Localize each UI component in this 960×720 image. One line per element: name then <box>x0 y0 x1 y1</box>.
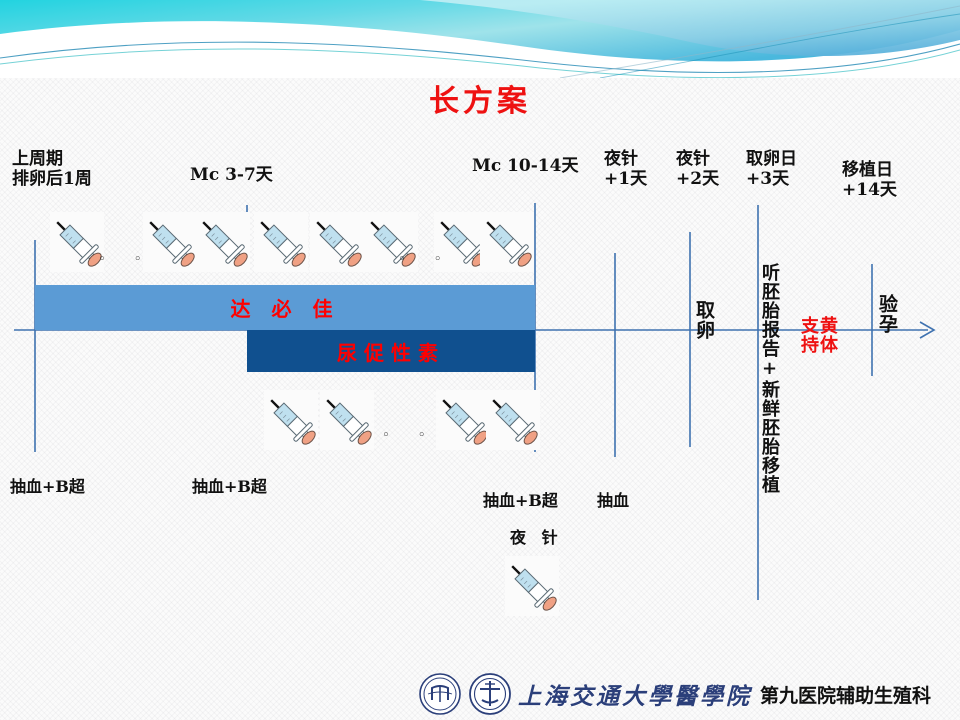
stage-label-prev-cycle: 上周期 排卵后1周 <box>12 150 92 189</box>
page-title: 长方案 <box>0 76 960 120</box>
vertical-note-embryo-report-transfer: 听胚胎报告+新鲜胚胎移植 <box>760 263 778 494</box>
syringe-icon <box>254 212 308 272</box>
vertical-note-luteal-support-line1: 黄体 <box>818 316 836 354</box>
syringe-icon-trigger-0 <box>505 556 559 616</box>
stage-label-mc-10-14: Mc 10-14天 <box>472 157 578 177</box>
syringe-icon <box>310 212 364 272</box>
hospital-seal-icon <box>468 672 512 716</box>
stage-label-transfer-plus-14: 移植日 +14天 <box>842 161 897 200</box>
monitoring-label-trigger-shot: 夜 针 <box>510 524 563 548</box>
vertical-note-luteal-support-line2: 支持 <box>799 316 817 354</box>
university-name: 上海交通大學醫學院 <box>518 677 752 711</box>
continuation-dots-lower-row-0: ◦ ◦ <box>382 428 437 443</box>
stage-label-trigger-plus-1: 夜针 +1天 <box>604 150 647 189</box>
syringe-icon-upper-row-0 <box>50 212 104 272</box>
syringe-icon <box>50 212 104 272</box>
syringe-icon <box>264 390 318 450</box>
syringe-icon-lower-row-0 <box>264 390 318 450</box>
monitoring-label-blood-us-2: 抽血+B超 <box>192 473 267 497</box>
slide-canvas: 长方案 上周期 排卵后1周Mc 3-7天Mc 10-14天夜针 +1天夜针 +2… <box>0 0 960 720</box>
vertical-note-oocyte-retrieval: 取卵 <box>694 300 713 340</box>
syringe-icon <box>320 390 374 450</box>
monitoring-label-blood-us-3: 抽血+B超 <box>483 487 558 511</box>
continuation-dots-upper-row-1: ◦ ◦ <box>398 252 453 267</box>
syringe-icon <box>196 212 250 272</box>
drug-bar-gonadotropin: 尿促性素 <box>247 330 535 372</box>
syringe-icon-upper-row-3 <box>254 212 308 272</box>
department-name: 第九医院辅助生殖科 <box>760 681 931 708</box>
syringe-icon <box>436 390 490 450</box>
university-seal-icon <box>418 672 462 716</box>
syringe-icon-lower-row-3 <box>486 390 540 450</box>
syringe-icon <box>480 212 534 272</box>
stage-label-retrieval-plus-3: 取卵日 +3天 <box>746 150 797 189</box>
monitoring-label-blood-us-1: 抽血+B超 <box>10 473 85 497</box>
syringe-icon-upper-row-7 <box>480 212 534 272</box>
syringe-icon-lower-row-2 <box>436 390 490 450</box>
vertical-note-pregnancy-test: 验孕 <box>877 294 896 334</box>
footer-bar: 上海交通大學醫學院 第九医院辅助生殖科 <box>0 654 960 720</box>
syringe-icon <box>505 556 559 616</box>
monitoring-label-blood-draw: 抽血 <box>597 487 629 511</box>
syringe-icon <box>486 390 540 450</box>
stage-label-trigger-plus-2: 夜针 +2天 <box>676 150 719 189</box>
syringe-icon-upper-row-4 <box>310 212 364 272</box>
drug-bar-gnrh-agonist: 达 必 佳 <box>35 285 535 330</box>
syringe-icon-upper-row-2 <box>196 212 250 272</box>
syringe-icon-lower-row-1 <box>320 390 374 450</box>
stage-label-mc-3-7: Mc 3-7天 <box>190 166 273 186</box>
continuation-dots-upper-row-0: ◦ ◦ <box>98 252 153 267</box>
